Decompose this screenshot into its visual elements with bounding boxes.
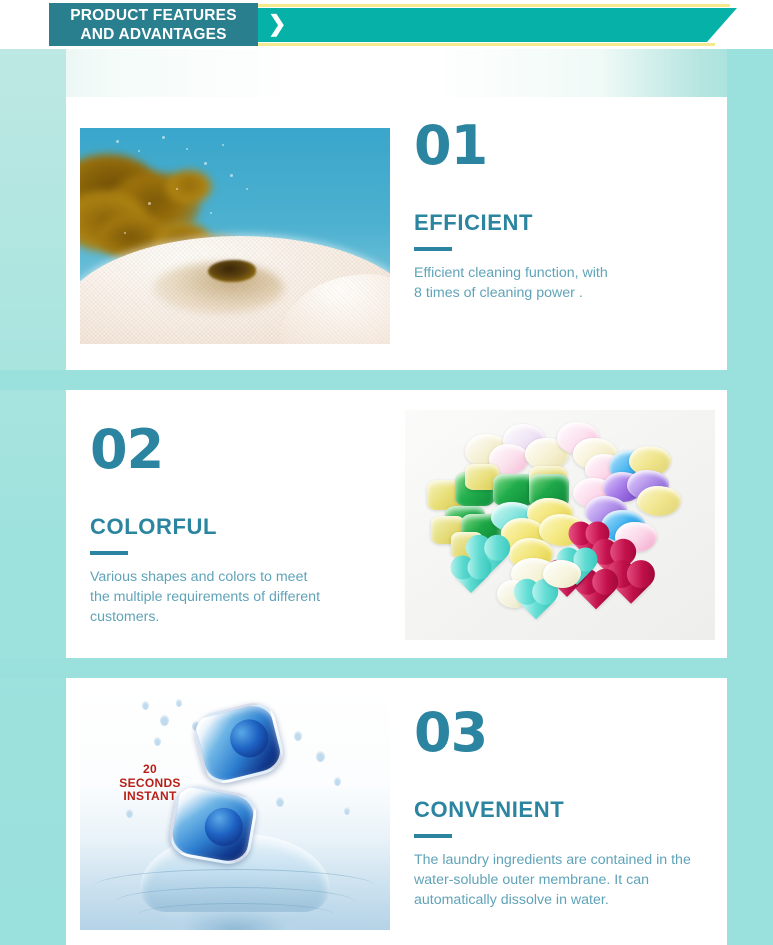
feature-text-convenient: 03 CONVENIENT The laundry ingredients ar… <box>414 706 714 910</box>
page-title: PRODUCT FEATURES AND ADVANTAGES <box>49 3 258 46</box>
water-droplet <box>316 751 325 762</box>
stain-spot <box>208 260 256 282</box>
pod-cream <box>637 486 681 516</box>
instant-badge: 20 SECONDS INSTANT <box>102 763 198 804</box>
bubble-speck <box>186 148 188 150</box>
feature-number: 02 <box>90 423 400 477</box>
feature-heading: EFFICIENT <box>414 210 704 236</box>
page-title-line1: PRODUCT FEATURES <box>70 6 237 25</box>
water-droplet <box>154 737 161 746</box>
bubble-speck <box>246 188 248 190</box>
feature-heading: COLORFUL <box>90 514 400 540</box>
feature-number: 03 <box>414 706 714 760</box>
heading-underline <box>90 551 128 555</box>
card-gap-2 <box>0 658 773 678</box>
water-droplet <box>344 807 350 815</box>
background-band-right <box>727 49 773 945</box>
feature-number: 01 <box>414 119 704 173</box>
feature-description: The laundry ingredients are contained in… <box>414 850 696 910</box>
bubble-speck <box>162 136 165 139</box>
bubble-speck <box>230 174 233 177</box>
feature-image-convenient: 20 SECONDS INSTANT <box>80 685 390 930</box>
feature-card-convenient: 20 SECONDS INSTANT 03 CONVENIENT The lau… <box>66 678 727 945</box>
water-droplet <box>276 797 284 807</box>
feature-heading: CONVENIENT <box>414 797 714 823</box>
water-droplet <box>142 701 149 710</box>
pod-inner-bubble <box>202 805 246 849</box>
feature-description: Efficient cleaning function, with 8 time… <box>414 263 612 303</box>
feature-text-colorful: 02 COLORFUL Various shapes and colors to… <box>90 423 400 627</box>
bubble-speck <box>176 188 178 190</box>
chevron-right-icon: ❯ <box>268 13 286 35</box>
feature-description: Various shapes and colors to meet the mu… <box>90 567 320 627</box>
water-droplet <box>334 777 341 786</box>
pod-clear <box>543 560 581 588</box>
water-ripple <box>138 903 334 926</box>
banner-accent-line-top <box>258 4 730 7</box>
bubble-speck <box>116 140 119 143</box>
bubble-speck <box>222 144 224 146</box>
page-title-line2: AND ADVANTAGES <box>80 25 226 44</box>
pod-cyan-heart <box>518 583 555 620</box>
bubble-speck <box>138 150 140 152</box>
water-droplet <box>160 715 169 726</box>
pod-cyan-heart <box>454 559 488 593</box>
feature-card-colorful: 02 COLORFUL Various shapes and colors to… <box>66 390 727 658</box>
feature-image-colorful <box>405 410 715 640</box>
water-droplet <box>294 731 302 741</box>
heading-underline <box>414 834 452 838</box>
feature-card-efficient: 01 EFFICIENT Efficient cleaning function… <box>66 97 727 370</box>
bubble-speck <box>124 232 126 234</box>
feature-text-efficient: 01 EFFICIENT Efficient cleaning function… <box>414 119 704 303</box>
laundry-pod-upper <box>191 698 288 788</box>
bubble-speck <box>148 202 151 205</box>
bubble-speck <box>210 212 212 214</box>
water-droplet <box>176 699 182 707</box>
heading-underline <box>414 247 452 251</box>
pod-inner-bubble <box>226 715 272 761</box>
water-droplet <box>126 809 133 818</box>
page-header: PRODUCT FEATURES AND ADVANTAGES ❯ <box>0 0 773 49</box>
feature-image-efficient <box>80 128 390 344</box>
bubble-speck <box>204 162 207 165</box>
product-features-page: PRODUCT FEATURES AND ADVANTAGES ❯ <box>0 0 773 945</box>
card-gap-1 <box>0 370 773 390</box>
background-band-left <box>0 49 66 945</box>
stain-plume <box>166 170 212 204</box>
